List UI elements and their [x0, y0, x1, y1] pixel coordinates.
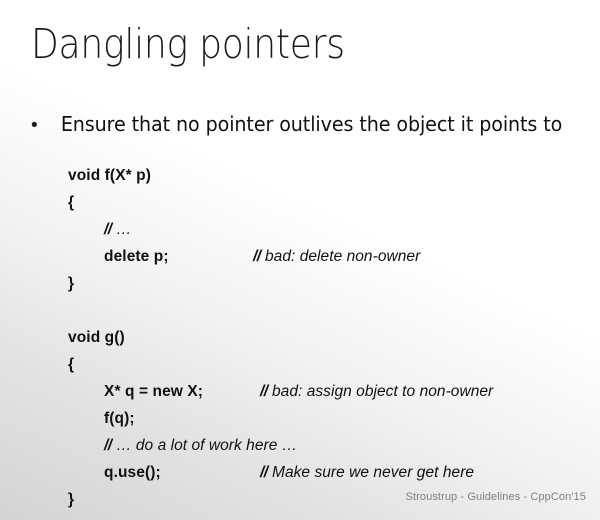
code-comment: // Make sure we never get here	[260, 459, 474, 486]
code-text: {	[68, 351, 74, 378]
code-line: // …	[68, 216, 588, 243]
code-line: }	[68, 270, 588, 297]
code-text: }	[68, 270, 74, 297]
code-line: q.use();// Make sure we never get here	[68, 459, 588, 486]
comment-slashes: //	[104, 221, 112, 238]
code-line: X* q = new X;// bad: assign object to no…	[68, 378, 588, 405]
code-line: {	[68, 189, 588, 216]
code-text: delete p;	[68, 243, 169, 270]
bullet-item-label: Ensure that no pointer outlives the obje…	[61, 112, 562, 136]
code-block: void f(X* p){// …delete p;// bad: delete…	[68, 162, 588, 513]
code-line: void g()	[68, 324, 588, 351]
code-line	[68, 297, 588, 324]
bullet-point-icon: •	[31, 116, 49, 135]
comment-slashes: //	[260, 383, 268, 400]
slide-footer: Stroustrup - Guidelines - CppCon'15	[0, 491, 586, 503]
comment-body: bad: delete non-owner	[261, 248, 421, 265]
code-comment: // …	[104, 221, 132, 238]
comment-body: Make sure we never get here	[268, 464, 474, 481]
comment-slashes: //	[253, 248, 261, 265]
slide-title: Dangling pointers	[31, 22, 345, 68]
code-text: void f(X* p)	[68, 162, 151, 189]
comment-body: … do a lot of work here …	[112, 437, 298, 454]
code-line: f(q);	[68, 405, 588, 432]
code-text: q.use();	[68, 459, 161, 486]
comment-body: …	[112, 221, 132, 238]
comment-body: bad: assign object to non-owner	[268, 383, 494, 400]
code-comment: // bad: delete non-owner	[253, 243, 420, 270]
presentation-slide: Dangling pointers • Ensure that no point…	[0, 0, 600, 520]
code-line: void f(X* p)	[68, 162, 588, 189]
comment-slashes: //	[260, 464, 268, 481]
code-text: void g()	[68, 324, 125, 351]
code-line: // … do a lot of work here …	[68, 432, 588, 459]
code-line: {	[68, 351, 588, 378]
bullet-list-item: • Ensure that no pointer outlives the ob…	[31, 112, 574, 136]
code-line: delete p;// bad: delete non-owner	[68, 243, 588, 270]
code-comment: // bad: assign object to non-owner	[260, 378, 493, 405]
code-text: X* q = new X;	[68, 378, 203, 405]
comment-slashes: //	[104, 437, 112, 454]
code-comment: // … do a lot of work here …	[104, 437, 297, 454]
code-text: {	[68, 189, 74, 216]
code-text: f(q);	[68, 405, 135, 432]
